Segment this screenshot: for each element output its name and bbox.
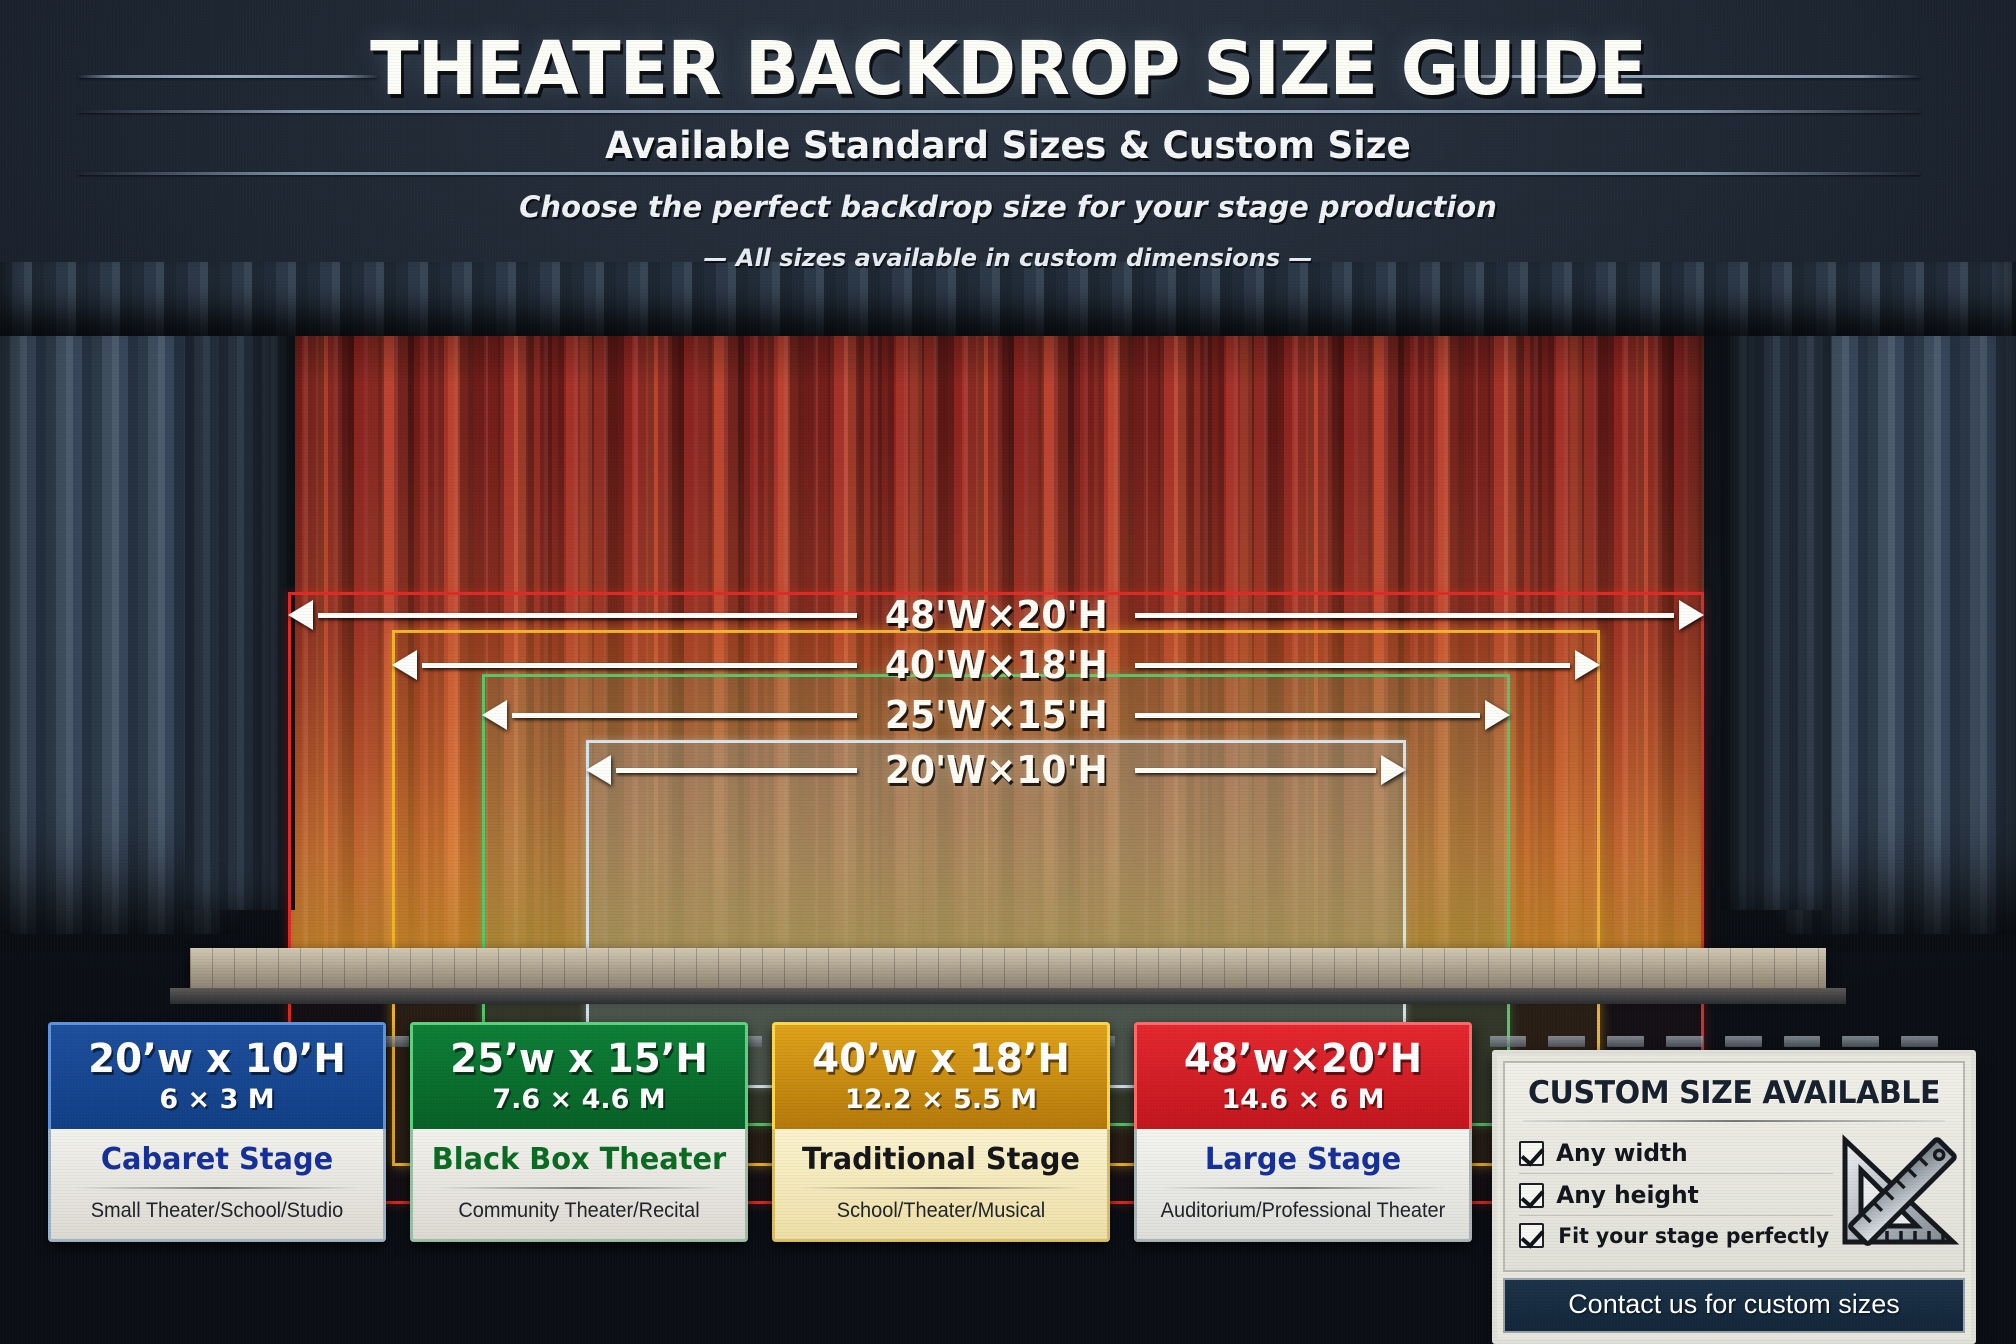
card-divider (799, 1187, 1083, 1189)
card-body: Large Stage Auditorium/Professional Thea… (1134, 1129, 1472, 1242)
dimension-row-25x15: 25'W×15'H (482, 692, 1510, 738)
card-size-feet: 25’w x 15’H (426, 1039, 733, 1080)
card-size-meters: 12.2 × 5.5 M (783, 1084, 1099, 1115)
size-card-large-stage[interactable]: 48’w×20’H 14.6 × 6 M Large Stage Auditor… (1134, 1022, 1472, 1242)
arrow-right-icon (1480, 700, 1510, 730)
header: THEATER BACKDROP SIZE GUIDE Available St… (0, 0, 2016, 278)
page-subtitle: Available Standard Sizes & Custom Size (30, 124, 1986, 167)
card-divider (1161, 1187, 1445, 1189)
dimension-label-20x10: 20'W×10'H (864, 748, 1129, 792)
dimension-label-25x15: 25'W×15'H (864, 693, 1129, 737)
checkbox-checked-icon[interactable] (1519, 1141, 1544, 1166)
infographic-poster: THEATER BACKDROP SIZE GUIDE Available St… (0, 0, 2016, 1344)
dimension-line (1135, 713, 1480, 718)
custom-size-body: Any width Any height Fit your stage perf… (1519, 1130, 1949, 1256)
card-stage-name: Traditional Stage (791, 1143, 1091, 1176)
dimension-line (1135, 768, 1376, 773)
checkbox-checked-icon[interactable] (1519, 1183, 1544, 1208)
dimension-row-40x18: 40'W×18'H (392, 642, 1600, 688)
card-use-case: Community Theater/Recital (431, 1199, 727, 1223)
footlight (1725, 1036, 1762, 1047)
card-header: 25’w x 15’H 7.6 × 4.6 M (410, 1022, 748, 1129)
dimension-label-48x20: 48'W×20'H (864, 593, 1129, 637)
custom-dimensions-note: — All sizes available in custom dimensio… (0, 244, 2016, 272)
footlight (1901, 1036, 1938, 1047)
size-card-list: 20’w x 10’H 6 × 3 M Cabaret Stage Small … (48, 1022, 1472, 1242)
arrow-left-icon (392, 650, 422, 680)
dimension-line (616, 768, 857, 773)
card-size-feet: 40’w x 18’H (788, 1039, 1095, 1080)
custom-size-title: CUSTOM SIZE AVAILABLE (1525, 1075, 1942, 1111)
footlight (1607, 1036, 1644, 1047)
footlight (1490, 1036, 1527, 1047)
dimension-line (1135, 663, 1570, 668)
card-stage-name: Black Box Theater (429, 1143, 729, 1176)
side-curtain-right-inner (1721, 262, 1831, 910)
custom-title-divider (1523, 1120, 1945, 1122)
custom-feature-label: Any height (1556, 1181, 1699, 1209)
card-body: Traditional Stage School/Theater/Musical (772, 1129, 1110, 1242)
stage-warm-glow (288, 426, 1704, 956)
size-card-black-box-theater[interactable]: 25’w x 15’H 7.6 × 4.6 M Black Box Theate… (410, 1022, 748, 1242)
card-stage-name: Cabaret Stage (67, 1143, 367, 1176)
card-stage-name: Large Stage (1153, 1143, 1453, 1176)
card-body: Cabaret Stage Small Theater/School/Studi… (48, 1129, 386, 1242)
card-size-meters: 14.6 × 6 M (1145, 1084, 1461, 1115)
arrow-left-icon (288, 600, 318, 630)
card-divider (75, 1187, 359, 1189)
custom-feature-any-height[interactable]: Any height (1519, 1173, 1833, 1215)
card-use-case: School/Theater/Musical (793, 1199, 1089, 1223)
custom-feature-label: Fit your stage perfectly (1558, 1224, 1829, 1248)
custom-feature-label: Any width (1556, 1139, 1688, 1167)
card-size-feet: 20’w x 10’H (64, 1039, 371, 1080)
arrow-right-icon (1674, 600, 1704, 630)
side-curtain-left-inner (185, 262, 295, 910)
stage-floor-front (170, 988, 1846, 1004)
dimension-line (512, 713, 857, 718)
dimension-label-40x18: 40'W×18'H (864, 643, 1129, 687)
footlight (1548, 1036, 1585, 1047)
custom-feature-fit-stage[interactable]: Fit your stage perfectly (1519, 1215, 1833, 1254)
card-header: 48’w×20’H 14.6 × 6 M (1134, 1022, 1472, 1129)
contact-label: Contact us for custom sizes (1568, 1289, 1900, 1319)
card-divider (437, 1187, 721, 1189)
page-title: THEATER BACKDROP SIZE GUIDE (40, 26, 1975, 112)
card-use-case: Auditorium/Professional Theater (1155, 1199, 1451, 1223)
dimension-row-20x10: 20'W×10'H (586, 747, 1406, 793)
page-tagline: Choose the perfect backdrop size for you… (0, 190, 2016, 224)
size-card-cabaret-stage[interactable]: 20’w x 10’H 6 × 3 M Cabaret Stage Small … (48, 1022, 386, 1242)
footlight (1842, 1036, 1879, 1047)
arrow-right-icon (1570, 650, 1600, 680)
dimension-line (318, 613, 857, 618)
custom-size-panel[interactable]: CUSTOM SIZE AVAILABLE Any width Any heig… (1492, 1050, 1976, 1344)
card-size-feet: 48’w×20’H (1150, 1039, 1457, 1080)
card-header: 40’w x 18’H 12.2 × 5.5 M (772, 1022, 1110, 1129)
footlight (1784, 1036, 1821, 1047)
arrow-right-icon (1376, 755, 1406, 785)
card-body: Black Box Theater Community Theater/Reci… (410, 1129, 748, 1242)
arrow-left-icon (482, 700, 512, 730)
theater-stage-illustration: 48'W×20'H 40'W×18'H 25'W×15'H 20'W×10'H … (0, 262, 2016, 1012)
custom-feature-list: Any width Any height Fit your stage perf… (1519, 1130, 1833, 1256)
dimension-line (422, 663, 857, 668)
header-rule-lower (78, 172, 1920, 175)
contact-bar[interactable]: Contact us for custom sizes (1503, 1278, 1965, 1333)
stage-floor (190, 948, 1826, 990)
card-size-meters: 6 × 3 M (59, 1084, 375, 1115)
custom-feature-any-width[interactable]: Any width (1519, 1132, 1833, 1173)
dimension-line (1135, 613, 1674, 618)
card-size-meters: 7.6 × 4.6 M (421, 1084, 737, 1115)
dimension-row-48x20: 48'W×20'H (288, 592, 1704, 638)
ruler-set-square-icon (1835, 1130, 1967, 1256)
checkbox-checked-icon[interactable] (1519, 1223, 1544, 1248)
footlight (1666, 1036, 1703, 1047)
custom-size-inner: CUSTOM SIZE AVAILABLE Any width Any heig… (1503, 1061, 1965, 1272)
arrow-left-icon (586, 755, 616, 785)
card-use-case: Small Theater/School/Studio (69, 1199, 365, 1223)
size-card-traditional-stage[interactable]: 40’w x 18’H 12.2 × 5.5 M Traditional Sta… (772, 1022, 1110, 1242)
card-header: 20’w x 10’H 6 × 3 M (48, 1022, 386, 1129)
